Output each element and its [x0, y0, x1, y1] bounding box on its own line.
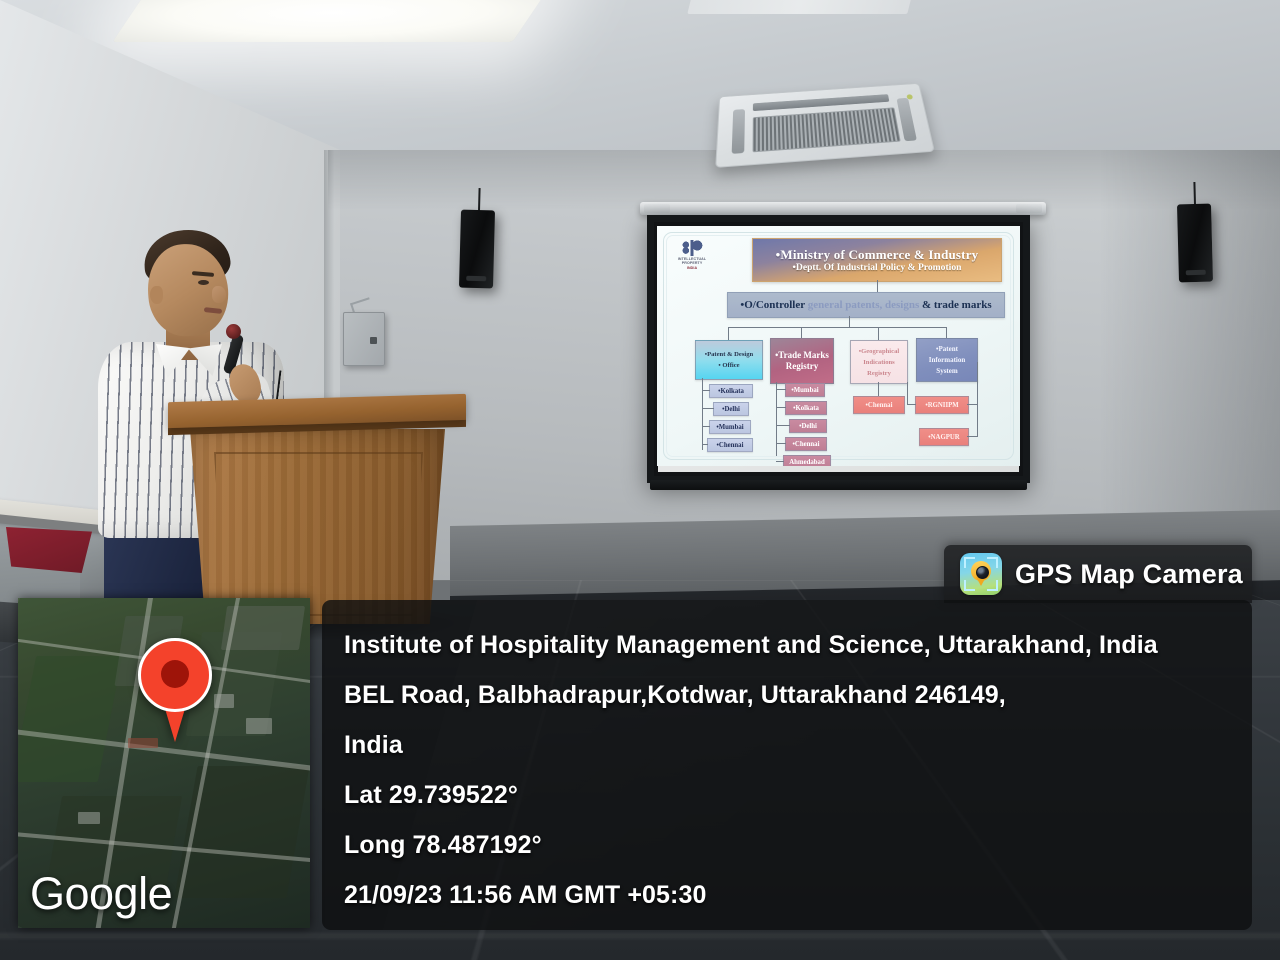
map-building-3: [78, 812, 100, 824]
ac-side-vent-left: [732, 109, 745, 154]
map-location-pin-icon: [138, 638, 212, 742]
ceiling-light-panel: [112, 0, 551, 42]
ip-logo-mark: [681, 240, 703, 256]
info-timestamp: 21/09/23 11:56 AM GMT +05:30: [344, 870, 1230, 920]
leaf-tm-kolkata: •Kolkata: [785, 401, 827, 415]
presenter-eye: [198, 280, 209, 285]
pis-line1: •Patent: [936, 344, 958, 355]
connector-pd-kolkata: [702, 390, 710, 391]
trade-marks-line2: Registry: [786, 361, 819, 372]
connector-tm-chennai: [776, 443, 786, 444]
ceiling-light-panel-secondary: [687, 0, 912, 14]
leaf-pis-nagpur: •NAGPUR: [919, 428, 969, 446]
info-place-name: Institute of Hospitality Management and …: [344, 620, 1230, 670]
connector-pis-left-join: [907, 404, 916, 405]
leaf-tm-mumbai: •Mumbai: [785, 383, 825, 397]
leaf-patent-design-chennai: •Chennai: [707, 438, 753, 452]
connector-ministry-to-controller: [877, 280, 878, 292]
ac-grille: [753, 107, 901, 152]
leaf-tm-delhi: •Delhi: [789, 419, 827, 433]
slide-node-trade-marks-registry: •Trade Marks Registry: [770, 338, 834, 384]
connector-pis-right-spine: [977, 362, 978, 436]
presentation-slide: INTELLECTUAL PROPERTY INDIA •Ministry of…: [657, 226, 1020, 466]
projector-screen-housing: [640, 202, 1046, 215]
leaf-patent-design-delhi: •Delhi: [713, 402, 749, 416]
patent-design-line1: •Patent & Design: [705, 349, 753, 360]
projector-screen-weight-bar: [650, 480, 1027, 490]
map-thumbnail[interactable]: Google: [18, 598, 310, 928]
presenter-nose: [212, 286, 226, 303]
connector-gi-to-chennai: [878, 382, 879, 396]
wall-electrical-box: [343, 312, 385, 366]
connector-to-geographical: [878, 327, 879, 340]
slide-node-patent-design-office: •Patent & Design • Office: [695, 340, 763, 380]
info-latitude: Lat 29.739522°: [344, 770, 1230, 820]
wall-speaker-left: [459, 210, 495, 289]
slide-node-patent-information-system: •Patent Information System: [916, 338, 978, 382]
ip-logo-line1: INTELLECTUAL: [678, 257, 706, 261]
icon-bracket-bottom-left: [964, 580, 975, 591]
wall-speaker-right: [1177, 204, 1213, 283]
connector-tm-kolkata: [776, 407, 786, 408]
leaf-patent-design-kolkata: •Kolkata: [709, 384, 753, 398]
podium-front-panel: [214, 452, 423, 616]
slide-node-ministry: •Ministry of Commerce & Industry •Deptt.…: [752, 238, 1002, 282]
map-field-1: [18, 656, 122, 782]
connector-tm-ahmedabad: [776, 461, 784, 462]
info-address-line-2: India: [344, 720, 1230, 770]
connector-pd-mumbai: [702, 426, 710, 427]
leaf-pis-rgniipm: •RGNIIPM: [915, 396, 969, 414]
pin-center-dot: [161, 660, 189, 688]
leaf-gi-chennai: •Chennai: [853, 396, 905, 414]
slide-node-geographical-indications-registry: •Geographical Indications Registry: [850, 340, 908, 384]
leaf-tm-ahmedabad: Ahmedabad: [783, 455, 831, 466]
connector-to-patent-design: [728, 327, 729, 340]
connector-to-patent-info: [946, 327, 947, 338]
screenshot-root: INTELLECTUAL PROPERTY INDIA •Ministry of…: [0, 0, 1280, 960]
ip-logo-line3: INDIA: [687, 266, 697, 270]
connector-pis-nagpur: [967, 436, 978, 437]
info-longitude: Long 78.487192°: [344, 820, 1230, 870]
google-watermark: Google: [30, 868, 172, 920]
connector-trade-marks-spine: [776, 382, 777, 456]
pis-line3: System: [936, 366, 957, 377]
connector-pis-rgniipm: [967, 404, 978, 405]
gi-line2: Indications: [863, 357, 895, 368]
presenter-ear: [150, 286, 163, 304]
slide-node-controller: •O/Controller general patents, designs &…: [727, 292, 1005, 318]
ip-logo-line2: PROPERTY: [682, 261, 703, 265]
ip-logo-text: INTELLECTUAL PROPERTY INDIA: [678, 257, 706, 270]
microphone-head-icon: [226, 324, 241, 339]
gi-line1: •Geographical: [859, 346, 899, 357]
connector-tm-mumbai: [776, 389, 786, 390]
controller-prefix: •O/Controller: [740, 299, 807, 311]
patent-design-line2: • Office: [718, 360, 739, 371]
pis-line2: Information: [929, 355, 966, 366]
icon-camera-lens: [976, 566, 989, 579]
trade-marks-line1: •Trade Marks: [775, 350, 829, 361]
gi-line3: Registry: [867, 368, 891, 379]
connector-pd-delhi: [702, 408, 714, 409]
department-title: •Deptt. Of Industrial Policy & Promotion: [793, 262, 962, 273]
intellectual-property-india-logo: INTELLECTUAL PROPERTY INDIA: [679, 240, 705, 270]
info-address-line-1: BEL Road, Balbhadrapur,Kotdwar, Uttarakh…: [344, 670, 1230, 720]
leaf-tm-chennai: •Chennai: [785, 437, 827, 451]
controller-title: •O/Controller general patents, designs &…: [740, 299, 991, 311]
map-building-1: [214, 694, 234, 708]
controller-suffix: & trade marks: [919, 299, 991, 311]
map-field-5: [174, 766, 309, 898]
icon-bracket-bottom-right: [987, 580, 998, 591]
gps-map-camera-label: GPS Map Camera: [1015, 559, 1243, 590]
leaf-patent-design-mumbai: •Mumbai: [709, 420, 751, 434]
controller-faded: general patents, designs: [808, 299, 920, 311]
connector-to-trade-marks: [801, 327, 802, 338]
connector-patent-design-spine: [702, 378, 703, 450]
gps-info-panel: Institute of Hospitality Management and …: [322, 600, 1252, 930]
connector-tm-delhi: [776, 425, 790, 426]
gps-map-camera-badge: GPS Map Camera: [944, 545, 1252, 603]
connector-pis-left-drop: [907, 382, 908, 404]
gps-map-camera-app-icon: [960, 553, 1002, 595]
ac-indicator-led: [906, 94, 913, 99]
map-building-2: [246, 718, 272, 734]
ministry-title: •Ministry of Commerce & Industry: [776, 248, 979, 262]
connector-pd-chennai: [702, 444, 708, 445]
connector-horizontal-bus: [728, 327, 946, 328]
